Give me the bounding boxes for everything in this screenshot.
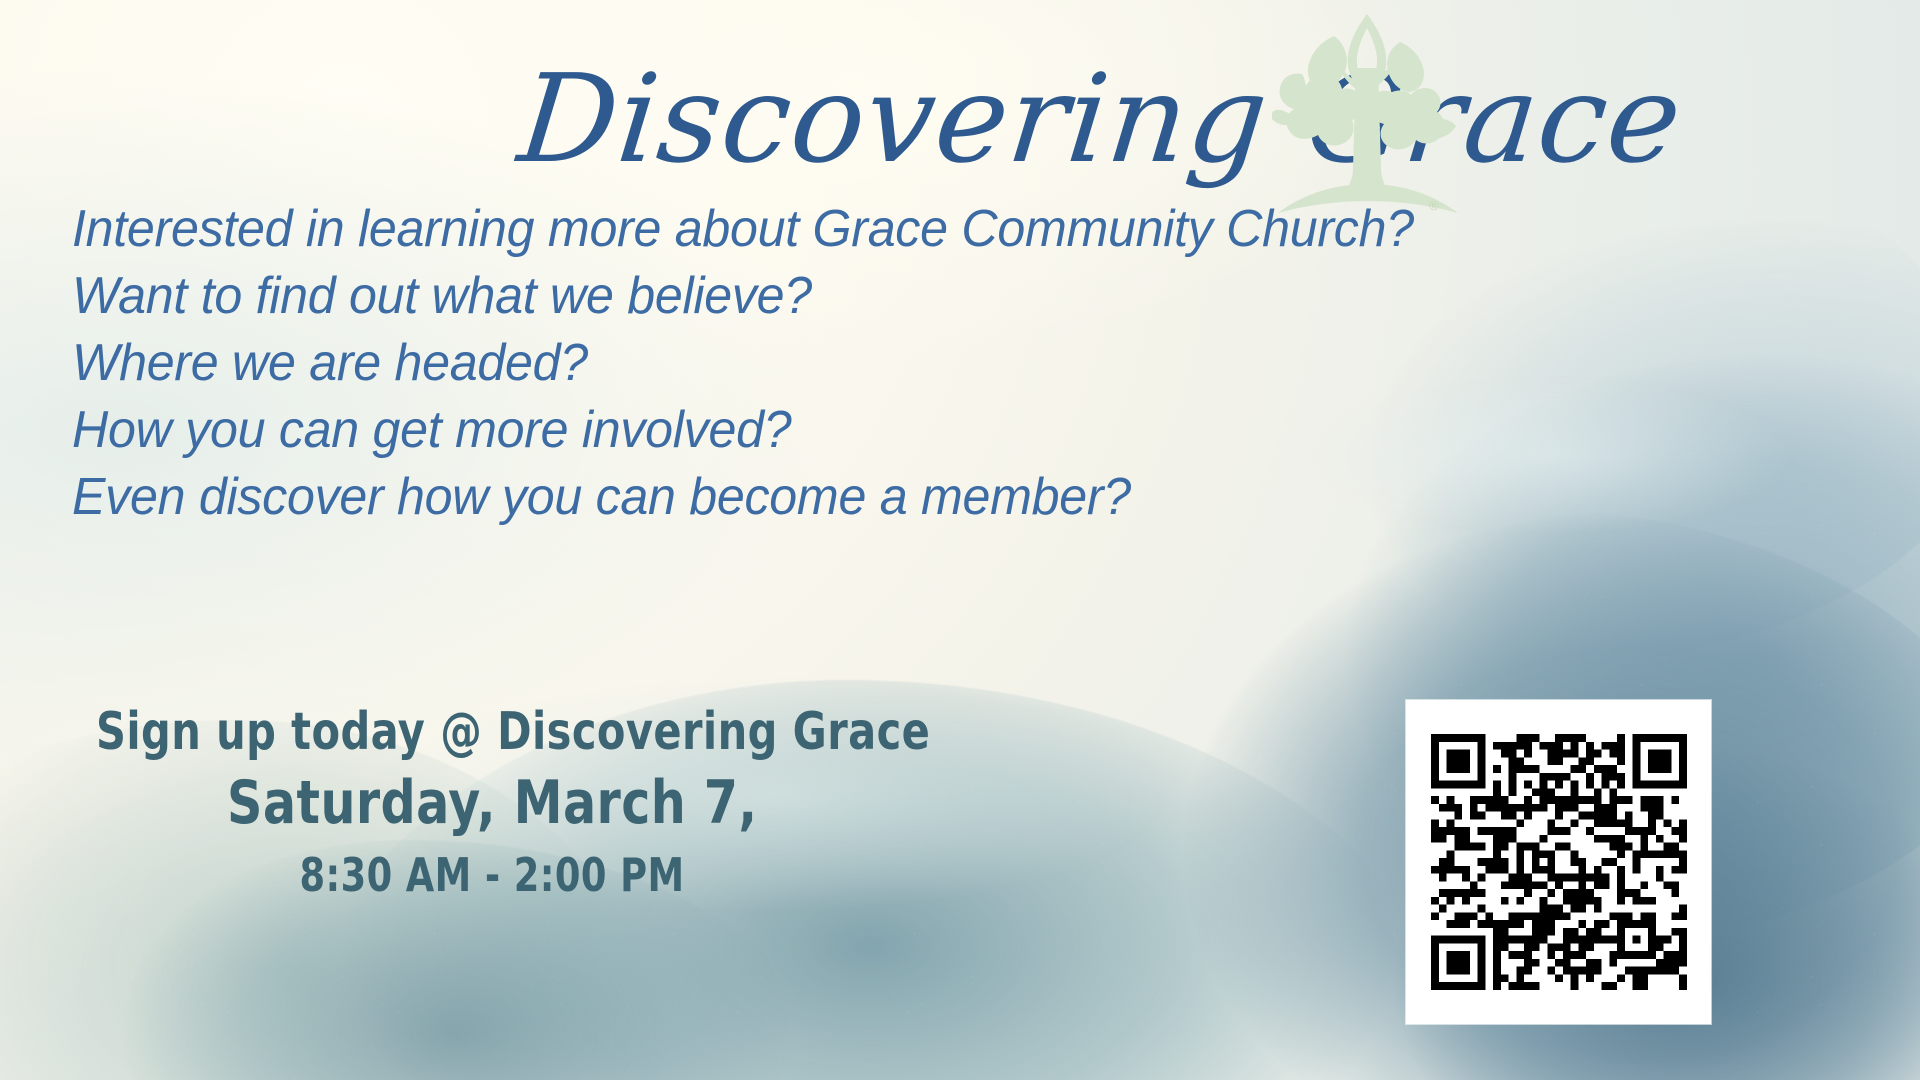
question-list: Interested in learning more about Grace … (72, 196, 1592, 531)
question-line: Where we are headed? (72, 330, 1539, 397)
registration-qr-code[interactable] (1431, 734, 1687, 990)
event-details: Sign up today @ Discovering Grace Saturd… (0, 700, 960, 908)
question-line: Want to find out what we believe? (72, 263, 1539, 330)
event-date: Saturday, March 7, (86, 764, 873, 842)
page-title: Discovering Grace (514, 58, 1357, 180)
qr-code-panel[interactable] (1406, 700, 1711, 1024)
event-time: 8:30 AM - 2:00 PM (96, 842, 864, 908)
question-line: How you can get more involved? (72, 397, 1539, 464)
question-line: Interested in learning more about Grace … (72, 196, 1539, 263)
signup-call-to-action: Sign up today @ Discovering Grace (96, 700, 864, 764)
tree-logo-icon (1272, 8, 1462, 220)
question-line: Even discover how you can become a membe… (72, 464, 1539, 531)
flyer-content: Discovering Grace (0, 0, 1920, 1080)
